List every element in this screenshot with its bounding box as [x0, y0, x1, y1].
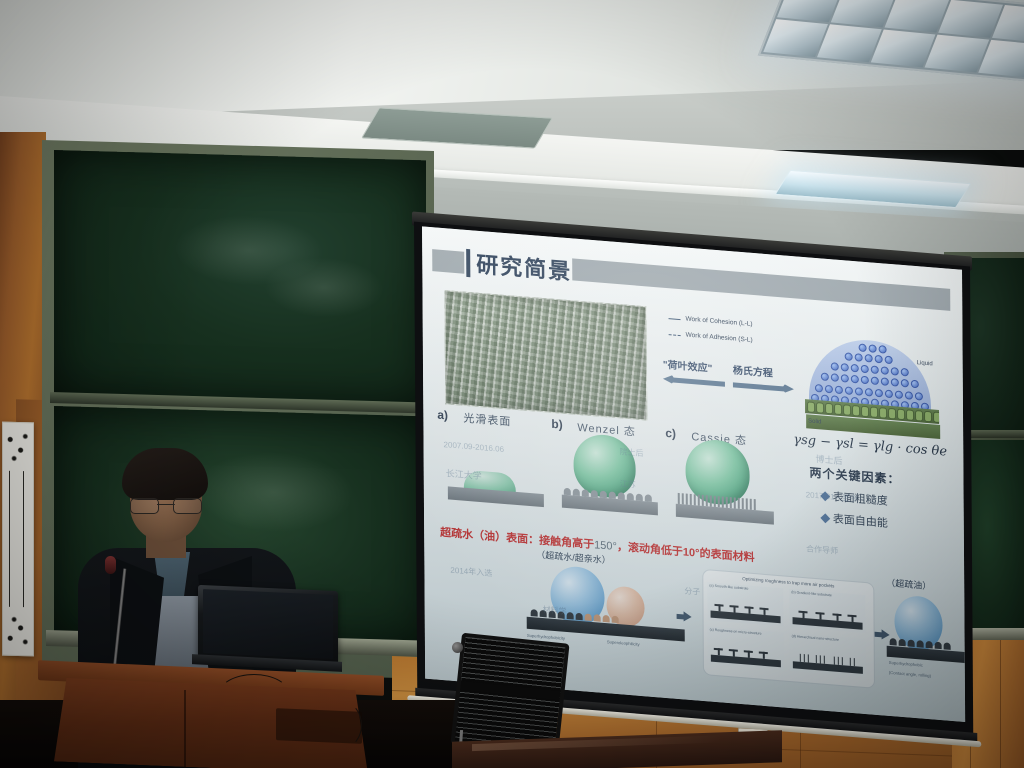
pillar	[722, 496, 724, 507]
liquid-molecule	[865, 354, 873, 363]
bump	[603, 615, 610, 623]
callout-quadrant-a: (a) Smooth-like substrate	[707, 582, 783, 626]
young-equation-arrow-group: 杨氏方程	[733, 361, 799, 394]
liquid-molecule	[841, 374, 849, 383]
liquid-label: Liquid	[917, 360, 933, 367]
pillar	[754, 499, 756, 510]
nano-needle	[834, 656, 835, 664]
nano-needle	[850, 658, 851, 666]
ghost-text: 分子	[684, 585, 700, 597]
liquid-molecule	[855, 353, 863, 362]
panel-b-key: b)	[551, 417, 562, 432]
nano-needle	[800, 654, 801, 662]
red-prefix: 超疏水（油）表面：接触角高于	[440, 527, 594, 551]
microphone-head-icon	[105, 556, 116, 574]
arrow-head	[783, 383, 794, 394]
liquid-molecule	[891, 378, 899, 387]
liquid-molecule	[851, 375, 859, 384]
bump	[926, 641, 933, 649]
nano-needle	[854, 658, 855, 666]
title-accent-left	[432, 249, 464, 274]
pillar	[742, 498, 744, 509]
tee-pillar	[759, 651, 768, 659]
panel-seam	[1000, 640, 1001, 768]
solid-molecule	[897, 408, 905, 420]
tee-pillar	[832, 613, 841, 621]
nano-needle	[816, 655, 817, 663]
bump	[594, 614, 601, 622]
solid-molecule	[933, 411, 939, 423]
chair-pivot-knob	[452, 642, 463, 653]
pillar	[694, 494, 696, 505]
liquid-molecule	[841, 363, 849, 372]
bump	[531, 609, 538, 617]
bottom-left-label-2: Superoleophilicity	[607, 639, 640, 647]
bump	[899, 639, 906, 647]
pillar	[678, 493, 680, 504]
nano-needle	[824, 656, 825, 664]
liquid-molecule	[861, 376, 869, 385]
arrow-left-icon	[663, 374, 729, 389]
liquid-molecule	[895, 390, 903, 399]
ghost-text: 2014年入选	[450, 565, 492, 579]
pillar	[686, 494, 688, 505]
bump	[567, 612, 574, 620]
young-equation-label: 杨氏方程	[733, 361, 799, 381]
liquid-dome	[809, 335, 931, 411]
bump	[890, 638, 897, 646]
panel-rule-right	[23, 471, 24, 607]
liquid-molecule	[881, 377, 889, 386]
liquid-molecule	[875, 389, 883, 398]
liquid-molecule	[901, 368, 909, 377]
nano-needle	[804, 654, 805, 662]
lectern-edge	[184, 690, 186, 768]
red-suffix: 的表面材料	[700, 548, 755, 564]
bump	[944, 642, 951, 650]
tee-pillar	[815, 612, 824, 620]
bump	[908, 639, 915, 647]
red-angle-1: 150°	[594, 539, 617, 553]
liquid-molecule	[859, 343, 867, 352]
legend-dashed-line-icon	[669, 334, 681, 336]
bump	[585, 613, 592, 621]
panel-a-key: a)	[437, 408, 448, 423]
red-middle: ，滚动角低于	[617, 541, 683, 558]
arrow-shaft	[733, 382, 785, 391]
tee-pillar	[729, 649, 738, 657]
framed-ornamental-panel	[2, 422, 34, 657]
tee-pillar	[759, 608, 768, 616]
bottom-right-label-2: (Contact angle, rolling)	[889, 670, 931, 678]
ghost-text: 材料学	[543, 604, 567, 617]
liquid-molecule	[905, 391, 913, 400]
solid-molecule	[807, 401, 815, 413]
smooth-substrate	[448, 486, 544, 507]
ghost-text: 江苏	[620, 478, 636, 490]
cable	[326, 702, 362, 748]
liquid-molecule	[885, 390, 893, 399]
solid-molecule	[879, 407, 887, 419]
liquid-molecule	[831, 373, 839, 382]
arrow-right-icon	[733, 379, 799, 394]
key-factor-item: 表面自由能	[822, 510, 960, 537]
nano-needle	[838, 657, 839, 665]
panel-a-caption: 光滑表面	[463, 410, 511, 430]
liquid-molecule	[881, 366, 889, 375]
quadrant-label: (d) Hierarchical nano-structure	[790, 633, 866, 645]
solid-molecule	[834, 403, 842, 415]
solid-molecule	[906, 409, 914, 421]
presenter-laptop[interactable]	[192, 588, 338, 676]
title-tick-mark	[466, 249, 470, 277]
arrow-shaft	[673, 378, 725, 387]
solid-molecule	[852, 404, 860, 416]
presenter-hair	[122, 448, 208, 500]
liquid-molecule	[885, 356, 893, 365]
liquid-molecule	[871, 365, 879, 374]
tee-pillar	[744, 606, 753, 614]
solid-molecule	[915, 410, 923, 422]
liquid-molecule	[815, 384, 823, 393]
red-angle-2: 10°	[683, 546, 700, 559]
bottom-right-figure: Superhydrophobic (Contact angle, rolling…	[886, 590, 965, 692]
ghost-text: 长江大学	[446, 466, 482, 482]
callout-quadrant-d: (d) Hierarchical nano-structure	[790, 633, 866, 677]
pillar	[702, 495, 704, 506]
pillar	[714, 496, 716, 507]
solid-molecule	[861, 405, 869, 417]
effect-arrows: "荷叶效应" 杨氏方程	[663, 356, 793, 366]
pillar	[682, 493, 684, 504]
ghost-text: 院士后	[619, 446, 643, 459]
liquid-molecule	[871, 376, 879, 385]
liquid-molecule	[821, 372, 829, 381]
solid-molecule	[870, 406, 878, 418]
solid-molecule	[888, 407, 896, 419]
cable	[218, 674, 290, 716]
bump	[917, 640, 924, 648]
pillar	[746, 498, 748, 509]
laptop-screen[interactable]	[203, 589, 333, 659]
quadrant-label: (c) Roughness on micro-structure	[708, 626, 784, 638]
ornament-top-icon	[5, 427, 31, 470]
solid-molecule	[924, 410, 932, 422]
quadrant-label: (a) Smooth-like substrate	[707, 582, 783, 594]
eyeglasses-icon	[130, 498, 202, 512]
bottom-right-label-1: Superhydrophobic	[889, 660, 923, 668]
liquid-molecule	[861, 365, 869, 374]
pillar	[730, 497, 732, 508]
young-molecular-diagram: Liquid Solid	[805, 335, 936, 438]
tee-pillar	[714, 648, 723, 656]
roughness-optimization-callout: Optimizing roughness to trap more air po…	[702, 569, 875, 689]
chalkboard-left-upper	[54, 150, 426, 406]
liquid-molecule	[879, 345, 887, 354]
liquid-molecule	[825, 385, 833, 394]
panel-rule-left	[9, 471, 10, 607]
liquid-molecule	[831, 362, 839, 371]
tee-pillar	[744, 650, 753, 658]
chalk-smudge	[174, 213, 324, 287]
panel-c-key: c)	[665, 426, 676, 441]
lotus-effect-label: "荷叶效应"	[663, 356, 729, 376]
nano-needle	[808, 654, 809, 662]
liquid-molecule	[901, 379, 909, 388]
title-accent-right	[572, 258, 950, 310]
solid-molecule	[843, 404, 851, 416]
lotus-leaf-sem-image	[444, 290, 647, 420]
diamond-bullet-icon	[820, 513, 830, 523]
liquid-molecule	[875, 355, 883, 364]
liquid-molecule	[855, 387, 863, 396]
work-legend: Work of Cohesion (L-L) Work of Adhesion …	[668, 312, 818, 356]
laptop-lid	[198, 585, 338, 665]
chair-backrest	[450, 633, 569, 756]
liquid-molecule	[911, 380, 919, 389]
key-factor-label: 表面自由能	[833, 510, 888, 530]
ghost-text: 博士后	[815, 452, 842, 467]
ornament-bottom-icon	[5, 609, 31, 652]
quadrant-base	[793, 661, 863, 674]
legend-label: Work of Cohesion (L-L)	[685, 314, 752, 331]
legend-label: Work of Adhesion (S-L)	[686, 330, 753, 347]
pillar	[698, 495, 700, 506]
liquid-molecule	[865, 388, 873, 397]
arrow-head	[684, 611, 692, 622]
liquid-molecule	[869, 344, 877, 353]
wetting-state-panels: a) 光滑表面 b) Wenzel 态	[437, 408, 778, 545]
pillar	[750, 499, 752, 510]
legend-solid-line-icon	[669, 318, 681, 320]
pillar	[690, 494, 692, 505]
lens-left	[130, 498, 159, 514]
quadrant-label: (b) Gradient-like substrate	[789, 589, 865, 601]
panel-c: c) Cassie 态	[665, 426, 777, 449]
pillar	[710, 495, 712, 506]
liquid-molecule	[845, 352, 853, 361]
bump	[935, 642, 942, 650]
process-arrow-1-icon	[677, 611, 691, 623]
liquid-molecule	[851, 364, 859, 373]
pillar	[726, 497, 728, 508]
solid-molecule	[816, 402, 824, 414]
liquid-molecule	[891, 367, 899, 376]
liquid-molecule	[835, 386, 843, 395]
bump	[576, 613, 583, 621]
pillar	[718, 496, 720, 507]
pillared-substrate	[676, 504, 774, 525]
lotus-effect-arrow-group: "荷叶效应"	[663, 356, 729, 389]
pillar	[738, 498, 740, 509]
liquid-molecule	[845, 386, 853, 395]
tee-pillar	[847, 615, 856, 623]
nano-needle	[820, 655, 821, 663]
pillar	[734, 497, 736, 508]
lecture-hall-photo: 研究简景 Work of Cohesion (L-L) Work of Adhe…	[0, 0, 1024, 768]
tee-pillar	[729, 605, 738, 613]
tee-pillar	[798, 611, 807, 619]
callout-quadrant-b: (b) Gradient-like substrate	[789, 589, 865, 633]
bump	[612, 616, 619, 624]
callout-quadrant-c: (c) Roughness on micro-structure	[708, 626, 784, 670]
lens-right	[173, 498, 202, 514]
pillar	[706, 495, 708, 506]
slide-title: 研究简景	[476, 247, 572, 287]
liquid-molecule	[915, 392, 923, 401]
tee-pillar	[714, 604, 723, 612]
chalk-smudge	[264, 256, 384, 319]
solid-molecule	[825, 402, 833, 414]
nano-needle	[842, 657, 843, 665]
wooden-lectern	[38, 668, 384, 768]
